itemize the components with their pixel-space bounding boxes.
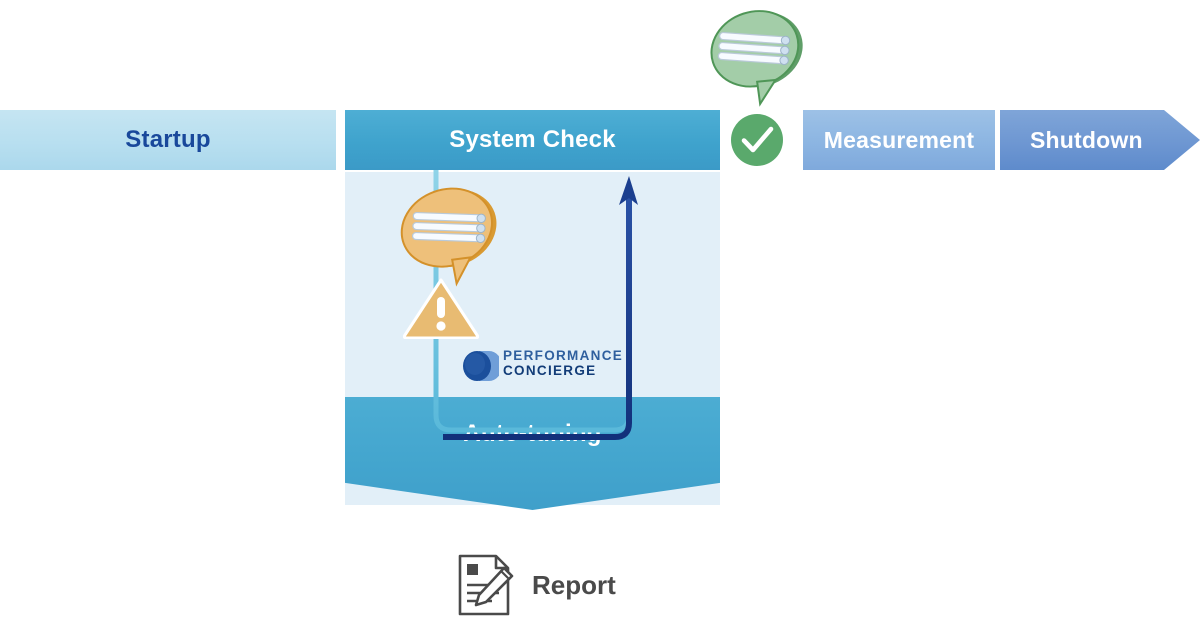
system-check-panel-group: Auto-tuning System Check (345, 110, 720, 520)
logo-line-1: PERFORMANCE (503, 349, 623, 364)
column-bubble-green-icon (706, 2, 810, 110)
column-bubble-orange-icon (398, 178, 506, 290)
stage-shutdown-label: Shutdown (1030, 127, 1143, 154)
stage-startup[interactable]: Startup (0, 110, 336, 170)
stage-system-check[interactable]: System Check (345, 110, 720, 170)
stage-measurement-label: Measurement (824, 127, 974, 154)
report-label: Report (532, 570, 616, 601)
stage-startup-label: Startup (125, 126, 210, 154)
check-circle-icon (729, 112, 785, 168)
stage-auto-tuning-label: Auto-tuning (463, 420, 601, 448)
logo-line-2: CONCIERGE (503, 364, 623, 379)
report-document-pencil-icon (456, 552, 514, 618)
performance-concierge-mark-icon (459, 348, 499, 384)
stage-system-check-label: System Check (449, 126, 616, 154)
diagram-canvas: Startup Auto-tuning System Check Measure… (0, 0, 1200, 620)
performance-concierge-logo: PERFORMANCE CONCIERGE (459, 348, 611, 384)
stage-shutdown[interactable]: Shutdown (1000, 110, 1200, 170)
report-group[interactable]: Report (456, 552, 616, 618)
stage-measurement[interactable]: Measurement (803, 110, 995, 170)
warning-triangle-icon (403, 277, 479, 339)
performance-concierge-wordmark: PERFORMANCE CONCIERGE (503, 349, 623, 378)
